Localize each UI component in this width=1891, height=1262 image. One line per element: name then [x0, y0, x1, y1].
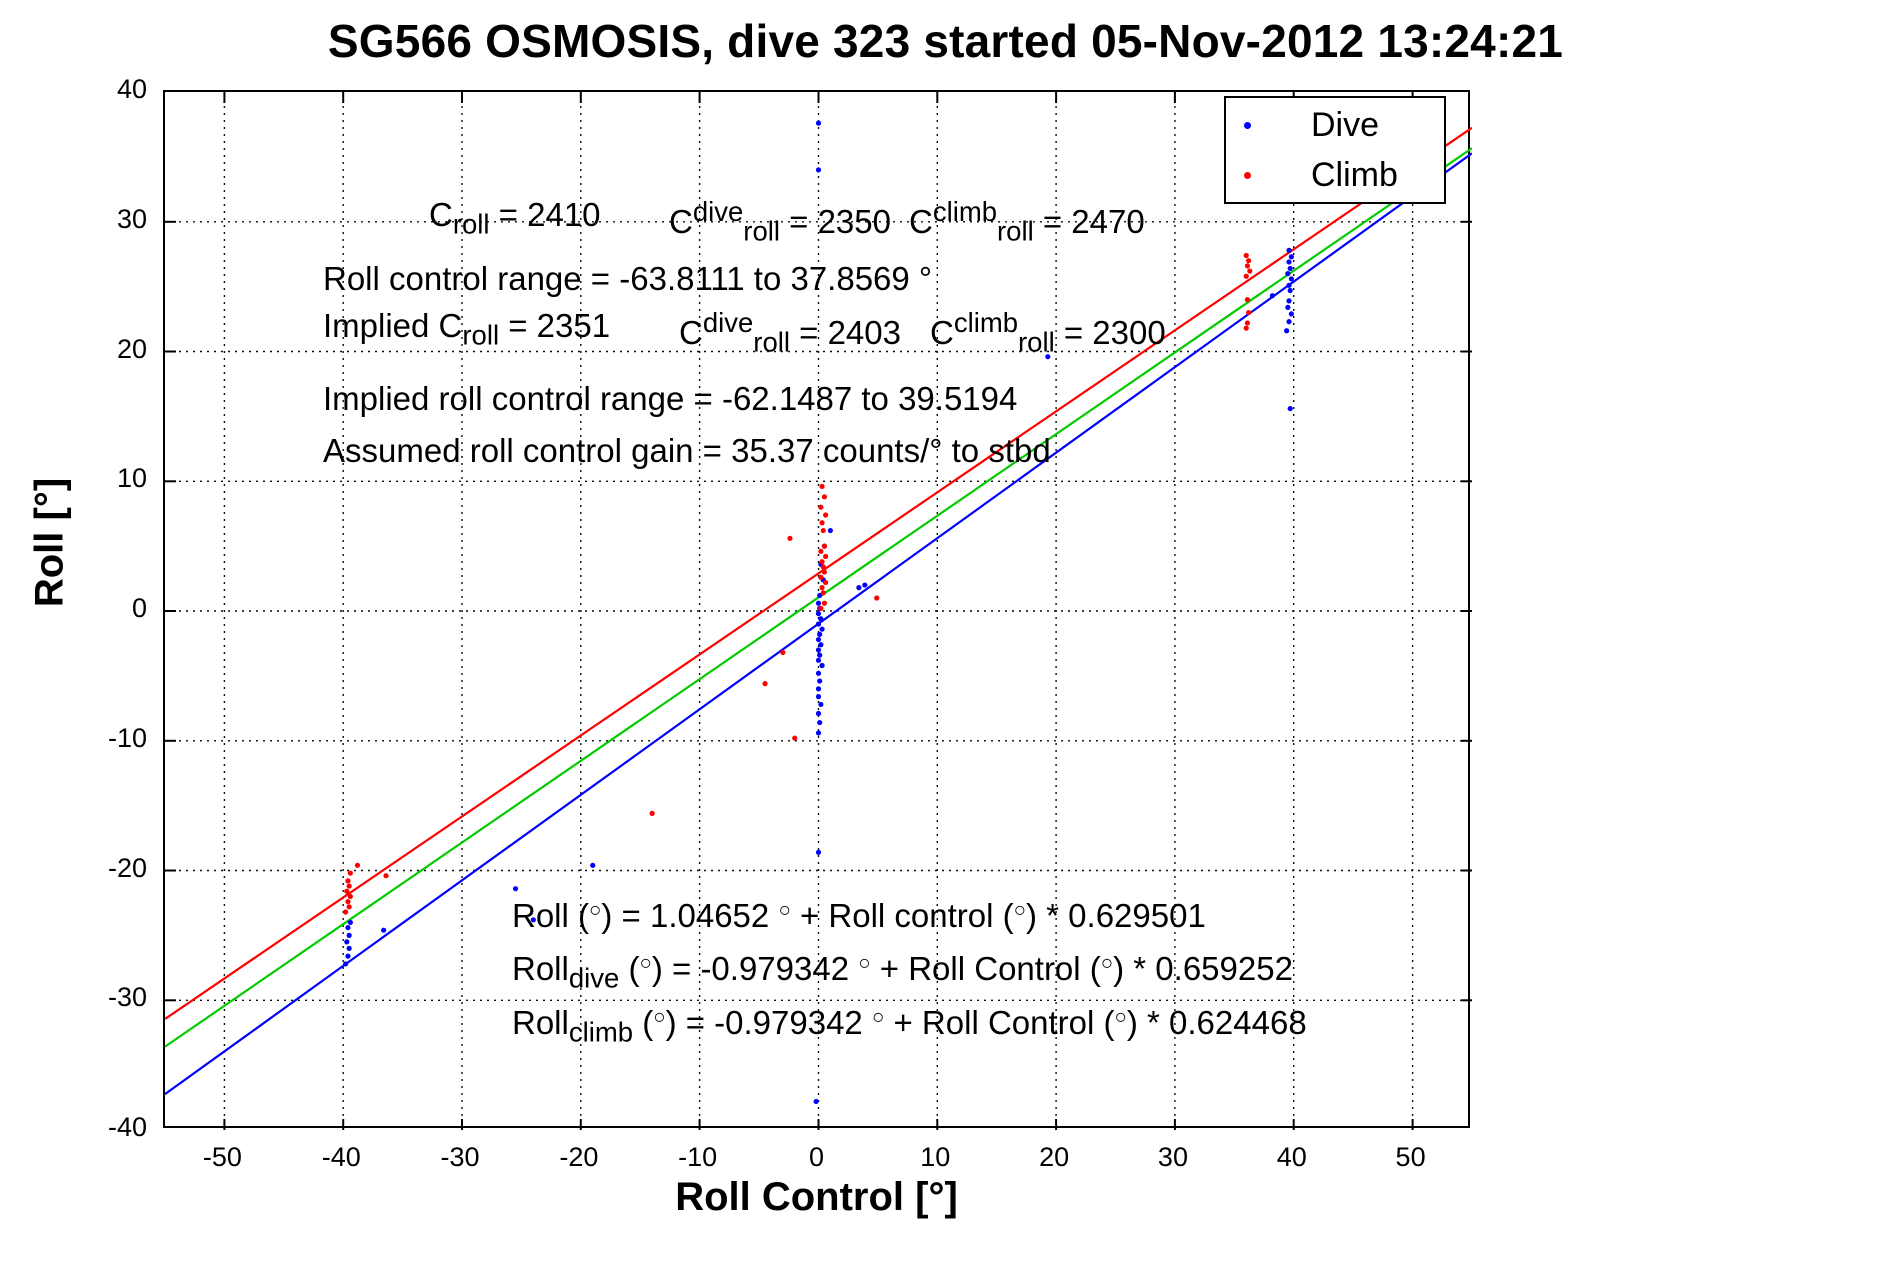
legend[interactable]: Dive Climb	[1224, 96, 1446, 204]
annotation-layer: Croll = 2410 Cdiveroll = 2350 Cclimbroll…	[165, 92, 1468, 1126]
annotation-equation-climb: Rollclimb (○) = -0.979342 ○ + Roll Contr…	[512, 1004, 1307, 1049]
x-tick-label: -30	[415, 1142, 505, 1173]
implied-climb-symbol: C	[930, 314, 954, 351]
c-roll-climb-symbol: C	[909, 203, 933, 240]
implied-climb-superscript: climb	[954, 307, 1018, 338]
implied-dive-symbol: C	[679, 314, 703, 351]
x-tick-label: -20	[534, 1142, 624, 1173]
x-axis-label: Roll Control [°]	[163, 1175, 1470, 1220]
implied-dive-superscript: dive	[703, 307, 753, 338]
legend-item-dive[interactable]: Dive	[1226, 100, 1444, 150]
annotation-c-roll-dive: Cdiveroll = 2350	[669, 196, 891, 248]
eq3-mid: (	[633, 1004, 653, 1041]
degree-symbol: ○	[639, 951, 651, 974]
eq2-mid3: + Roll Control (	[871, 950, 1101, 987]
c-roll-climb-superscript: climb	[933, 196, 997, 227]
eq1-suffix: ) * 0.629501	[1026, 897, 1206, 934]
eq2-mid: (	[619, 950, 639, 987]
c-roll-climb-value: = 2470	[1034, 203, 1145, 240]
annotation-implied-c-roll-dive: Cdiveroll = 2403	[679, 307, 901, 359]
annotation-equation-combined: Roll (○) = 1.04652 ○ + Roll control (○) …	[512, 897, 1206, 935]
implied-c-roll-symbol: Implied C	[323, 307, 462, 344]
y-tick-label: -20	[67, 853, 147, 884]
c-roll-dive-subscript: roll	[743, 216, 780, 247]
annotation-equation-dive: Rolldive (○) = -0.979342 ○ + Roll Contro…	[512, 950, 1293, 995]
c-roll-climb-subscript: roll	[997, 216, 1034, 247]
y-tick-label: 30	[67, 204, 147, 235]
annotation-assumed-gain: Assumed roll control gain = 35.37 counts…	[323, 432, 1051, 470]
eq2-prefix: Roll	[512, 950, 569, 987]
y-axis-label: Roll [°]	[28, 383, 73, 703]
legend-label-climb: Climb	[1311, 156, 1398, 195]
c-roll-dive-symbol: C	[669, 203, 693, 240]
x-tick-label: -40	[296, 1142, 386, 1173]
x-tick-label: 20	[1009, 1142, 1099, 1173]
c-roll-dive-superscript: dive	[693, 196, 743, 227]
annotation-implied-roll-control-range: Implied roll control range = -62.1487 to…	[323, 380, 1017, 418]
eq1-mid: ) = 1.04652	[601, 897, 778, 934]
eq1-prefix: Roll (	[512, 897, 589, 934]
c-roll-dive-value: = 2350	[780, 203, 891, 240]
eq3-mid3: + Roll Control (	[884, 1004, 1114, 1041]
legend-marker-dive	[1244, 122, 1251, 129]
y-tick-label: 10	[67, 463, 147, 494]
legend-marker-climb	[1244, 172, 1251, 179]
eq2-suffix: ) * 0.659252	[1113, 950, 1293, 987]
eq2-mid2: ) = -0.979342	[652, 950, 858, 987]
implied-dive-value: = 2403	[790, 314, 901, 351]
legend-item-climb[interactable]: Climb	[1226, 150, 1444, 200]
degree-symbol: ○	[1115, 1005, 1127, 1028]
y-tick-label: 20	[67, 334, 147, 365]
legend-label-dive: Dive	[1311, 106, 1379, 145]
annotation-c-roll-climb: Cclimbroll = 2470	[909, 196, 1145, 248]
c-roll-subscript: roll	[453, 209, 490, 240]
degree-symbol: ○	[589, 898, 601, 921]
y-tick-label: -30	[67, 982, 147, 1013]
degree-symbol: ○	[858, 951, 870, 974]
x-tick-label: 0	[772, 1142, 862, 1173]
degree-symbol: ○	[1101, 951, 1113, 974]
degree-symbol: ○	[653, 1005, 665, 1028]
x-tick-label: -10	[653, 1142, 743, 1173]
y-tick-label: 0	[67, 593, 147, 624]
y-tick-label: 40	[67, 74, 147, 105]
y-tick-label: -40	[67, 1112, 147, 1143]
plot-axes: Croll = 2410 Cdiveroll = 2350 Cclimbroll…	[163, 90, 1470, 1128]
implied-c-roll-subscript: roll	[462, 320, 499, 351]
eq3-prefix: Roll	[512, 1004, 569, 1041]
annotation-implied-c-roll-climb: Cclimbroll = 2300	[930, 307, 1166, 359]
eq2-subscript: dive	[569, 963, 619, 994]
eq1-mid2: + Roll control (	[791, 897, 1014, 934]
eq3-suffix: ) * 0.624468	[1127, 1004, 1307, 1041]
x-tick-label: 50	[1366, 1142, 1456, 1173]
implied-c-roll-value: = 2351	[499, 307, 610, 344]
c-roll-value: = 2410	[490, 196, 601, 233]
degree-symbol: ○	[778, 898, 790, 921]
degree-symbol: ○	[872, 1005, 884, 1028]
implied-climb-value: = 2300	[1055, 314, 1166, 351]
x-tick-label: 40	[1247, 1142, 1337, 1173]
chart-root: SG566 OSMOSIS, dive 323 started 05-Nov-2…	[0, 0, 1891, 1262]
x-tick-label: -50	[177, 1142, 267, 1173]
y-tick-label: -10	[67, 723, 147, 754]
x-tick-label: 10	[890, 1142, 980, 1173]
eq3-subscript: climb	[569, 1017, 633, 1048]
x-tick-label: 30	[1128, 1142, 1218, 1173]
c-roll-symbol: C	[429, 196, 453, 233]
annotation-roll-control-range: Roll control range = -63.8111 to 37.8569…	[323, 260, 932, 298]
implied-dive-subscript: roll	[753, 327, 790, 358]
annotation-c-roll: Croll = 2410	[429, 196, 601, 241]
page-title: SG566 OSMOSIS, dive 323 started 05-Nov-2…	[0, 14, 1891, 68]
degree-symbol: ○	[1014, 898, 1026, 921]
implied-climb-subscript: roll	[1018, 327, 1055, 358]
annotation-implied-c-roll: Implied Croll = 2351	[323, 307, 610, 352]
eq3-mid2: ) = -0.979342	[666, 1004, 872, 1041]
